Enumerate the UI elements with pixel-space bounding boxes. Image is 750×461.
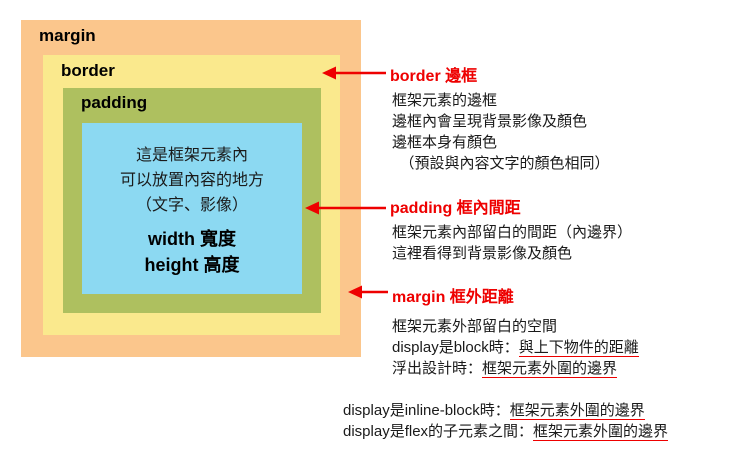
bottom-rule-2-emphasis: 框架元素外圍的邊界 <box>533 423 668 441</box>
margin-rule-1-emphasis: 與上下物件的距離 <box>519 339 639 357</box>
padding-arrow-left-icon <box>301 199 388 217</box>
margin-note-1: 框架元素外部留白的空間 <box>392 316 639 337</box>
border-note-2: 邊框內會呈現背景影像及顏色 <box>392 111 610 132</box>
bottom-rule-2: display是flex的子元素之間：框架元素外圍的邊界 <box>343 421 668 442</box>
content-box: 這是框架元素內 可以放置內容的地方 （文字、影像） width 寬度 heigh… <box>82 123 302 294</box>
annotation-heading-margin: margin 框外距離 <box>392 283 514 307</box>
bottom-rule-1-emphasis: 框架元素外圍的邊界 <box>510 402 645 420</box>
annotation-body-padding: 框架元素內部留白的間距（內邊界） 這裡看得到背景影像及顏色 <box>392 222 632 264</box>
margin-box-label: margin <box>39 26 96 46</box>
content-box-description: 這是框架元素內 可以放置內容的地方 （文字、影像） <box>82 143 302 218</box>
margin-rule-2-prefix: 浮出設計時： <box>392 360 482 377</box>
content-height-label: height 高度 <box>82 252 302 278</box>
annotation-body-border: 框架元素的邊框 邊框內會呈現背景影像及顏色 邊框本身有顏色 （預設與內容文字的顏… <box>392 90 610 174</box>
bottom-rules-block: display是inline-block時：框架元素外圍的邊界 display是… <box>343 400 668 442</box>
padding-box-label: padding <box>81 93 147 113</box>
content-box-dimensions: width 寬度 height 高度 <box>82 226 302 278</box>
bottom-rule-2-prefix: display是flex的子元素之間： <box>343 423 533 440</box>
content-width-label: width 寬度 <box>82 226 302 252</box>
border-note-4: （預設與內容文字的顏色相同） <box>392 153 610 174</box>
padding-note-2: 這裡看得到背景影像及顏色 <box>392 243 632 264</box>
content-line-1: 這是框架元素內 <box>82 143 302 168</box>
margin-rule-2: 浮出設計時：框架元素外圍的邊界 <box>392 358 639 379</box>
annotation-heading-border: border 邊框 <box>390 62 477 86</box>
margin-rule-1: display是block時：與上下物件的距離 <box>392 337 639 358</box>
border-box: border padding 這是框架元素內 可以放置內容的地方 （文字、影像）… <box>43 55 340 335</box>
box-model-diagram: margin border padding 這是框架元素內 可以放置內容的地方 … <box>0 0 750 461</box>
padding-box: padding 這是框架元素內 可以放置內容的地方 （文字、影像） width … <box>63 88 321 313</box>
border-box-label: border <box>61 61 115 81</box>
border-note-3: 邊框本身有顏色 <box>392 132 610 153</box>
margin-rule-1-prefix: display是block時： <box>392 339 519 356</box>
annotation-body-margin: 框架元素外部留白的空間 display是block時：與上下物件的距離 浮出設計… <box>392 316 639 379</box>
margin-arrow-left-icon <box>344 283 390 301</box>
content-line-2: 可以放置內容的地方 <box>82 168 302 193</box>
content-line-3: （文字、影像） <box>82 193 302 218</box>
margin-rule-2-emphasis: 框架元素外圍的邊界 <box>482 360 617 378</box>
bottom-rule-1: display是inline-block時：框架元素外圍的邊界 <box>343 400 668 421</box>
margin-box: margin border padding 這是框架元素內 可以放置內容的地方 … <box>21 20 361 357</box>
annotation-heading-padding: padding 框內間距 <box>390 194 521 218</box>
bottom-rule-1-prefix: display是inline-block時： <box>343 402 510 419</box>
border-note-1: 框架元素的邊框 <box>392 90 610 111</box>
padding-note-1: 框架元素內部留白的間距（內邊界） <box>392 222 632 243</box>
border-arrow-left-icon <box>318 64 388 82</box>
